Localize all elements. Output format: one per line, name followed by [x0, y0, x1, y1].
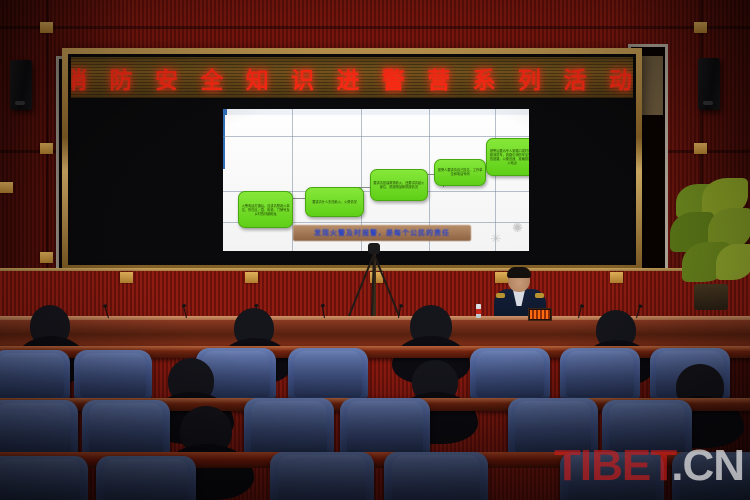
auditorium-seat[interactable] [508, 398, 598, 456]
slide-accent-bar [223, 109, 225, 168]
gold-accent-tile [40, 143, 53, 154]
slide-flow-box: 报警后要派专人到路口或村口等候消防车，到路引消防车至失火的道路，以便迅速、准确到… [486, 138, 529, 176]
gold-accent-tile [694, 22, 707, 33]
plant-leaf [716, 244, 750, 280]
auditorium-seat[interactable] [0, 456, 88, 500]
potted-plant [668, 178, 750, 310]
presentation-slide: 火警电话打通后，应讲清楚着火单位、所在区／县、街道、门牌号及乡村的详细地址 要讲… [223, 109, 529, 250]
display-screen-frame: 消 防 安 全 知 识 进 警 营 系 列 活 动 [62, 48, 642, 271]
auditorium-seat[interactable] [82, 400, 170, 458]
gold-accent-tile [0, 182, 13, 193]
presenter-hair [507, 267, 531, 278]
gold-accent-tile [40, 252, 53, 263]
panel-seam [495, 109, 496, 250]
auditorium-seat[interactable] [244, 398, 334, 456]
auditorium-seat[interactable] [0, 400, 78, 458]
auditorium-seat[interactable] [384, 452, 488, 500]
auditorium-seat[interactable] [74, 350, 152, 400]
auditorium-seat[interactable] [672, 452, 750, 500]
auditorium-seat[interactable] [560, 452, 664, 500]
uniform-insignia [535, 293, 544, 298]
led-banner-text: 消 防 安 全 知 识 进 警 营 系 列 活 动 [71, 61, 633, 95]
gold-accent-tile [40, 22, 53, 33]
auditorium-seat[interactable] [340, 398, 430, 456]
screenshot-root: 消 防 安 全 知 识 进 警 营 系 列 活 动 [0, 0, 750, 500]
slide-flow-box: 火警电话打通后，应讲清楚着火单位、所在区／县、街道、门牌号及乡村的详细地址 [238, 191, 293, 228]
slide-flow-box: 要讲清是建筑物着火，还要讲清起火部位、燃烧物品和燃烧情况 [370, 169, 428, 201]
uniform-insignia [496, 293, 505, 298]
slide-caption-banner: 发现火警及时报警，是每个公民的责任 [293, 225, 471, 241]
slide-title-bar [223, 109, 529, 115]
gold-accent-tile [610, 272, 623, 283]
water-bottle [476, 304, 481, 318]
wall-seam-horizontal-top [0, 26, 750, 29]
dandelion-graphic: ✺ [512, 221, 523, 234]
auditorium-seat[interactable] [560, 348, 640, 400]
auditorium-seat[interactable] [270, 452, 374, 500]
front-table [0, 320, 750, 346]
left-wall-speaker-icon [10, 60, 32, 110]
electronic-nameplate [528, 308, 552, 321]
auditorium-seat[interactable] [288, 348, 368, 400]
auditorium-seat[interactable] [602, 400, 692, 458]
slide-flow-box: 报警人要讲清自己姓名、工作单位和电话号码 [434, 159, 486, 186]
video-wall: 火警电话打通后，应讲清楚着火单位、所在区／县、街道、门牌号及乡村的详细地址 要讲… [71, 98, 633, 262]
gold-accent-tile [245, 272, 258, 283]
auditorium-seat[interactable] [470, 348, 550, 400]
slide-flow-box: 要讲清什么东西着火，火势情况 [305, 187, 363, 217]
camera-head-icon [368, 243, 380, 254]
led-banner: 消 防 安 全 知 识 进 警 营 系 列 活 动 [71, 57, 633, 98]
gold-accent-tile [120, 272, 133, 283]
plant-pot [694, 284, 728, 310]
right-wall-speaker-icon [698, 58, 720, 110]
panel-seam [223, 136, 529, 137]
dandelion-graphic: ✳ [491, 232, 502, 245]
display-screen: 消 防 安 全 知 识 进 警 营 系 列 活 动 [68, 54, 636, 265]
auditorium-seat[interactable] [0, 350, 70, 400]
tripod-camera [352, 243, 396, 325]
gold-accent-tile [694, 143, 707, 154]
auditorium-seat[interactable] [96, 456, 196, 500]
